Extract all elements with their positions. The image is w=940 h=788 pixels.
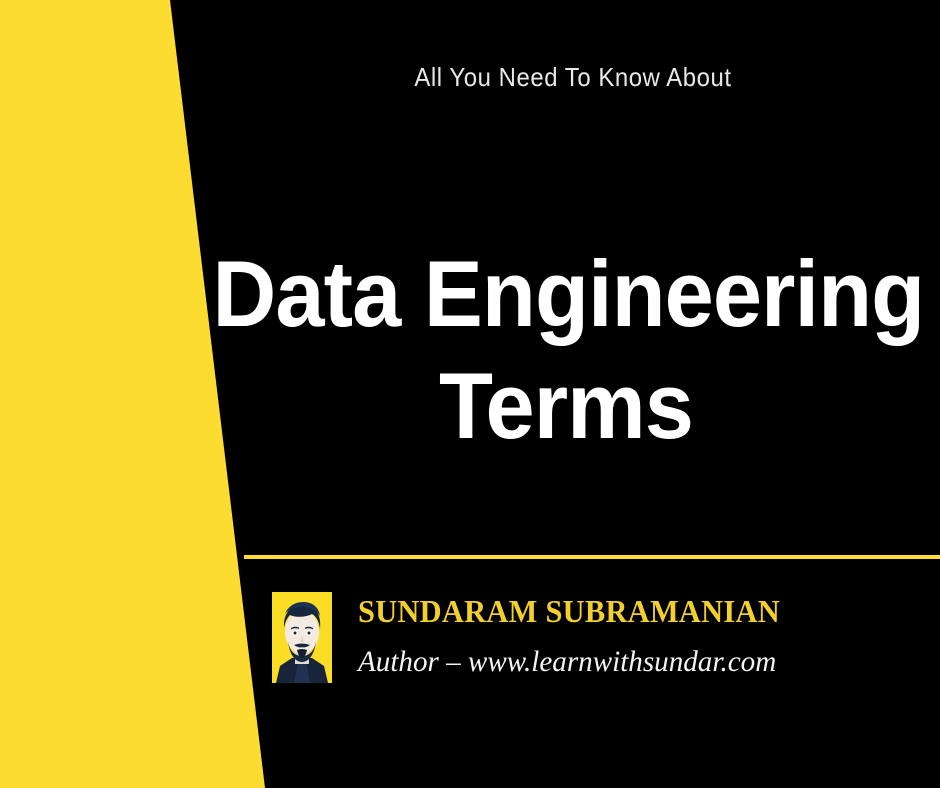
kicker-text: All You Need To Know About — [269, 60, 876, 94]
author-byline-row: SUNDARAM SUBRAMANIAN Author – www.learnw… — [272, 592, 802, 684]
title-line-2: Terms — [213, 350, 920, 462]
author-name: SUNDARAM SUBRAMANIAN — [358, 593, 780, 629]
yellow-divider-rule — [244, 555, 940, 559]
page-title: Data Engineering Terms — [190, 238, 940, 462]
poster-canvas: All You Need To Know About Data Engineer… — [0, 0, 940, 788]
avatar — [272, 592, 332, 683]
author-byline: Author – www.learnwithsundar.com — [358, 645, 789, 679]
portrait-photo-icon — [272, 592, 332, 683]
author-text-block: SUNDARAM SUBRAMANIAN Author – www.learnw… — [358, 592, 802, 679]
title-line-1: Data Engineering — [213, 238, 920, 350]
